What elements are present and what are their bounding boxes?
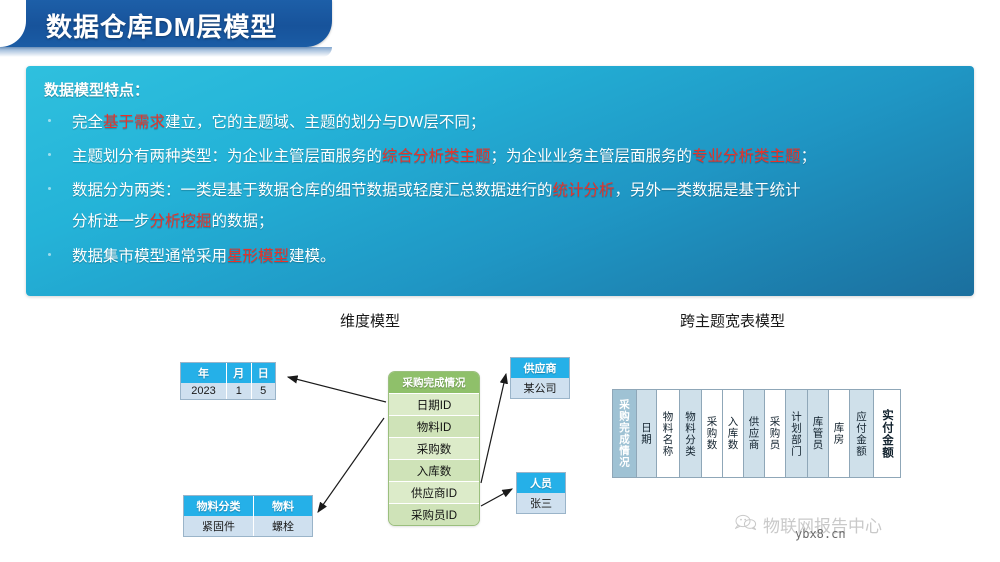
material-dim-header-category: 物料分类 <box>184 496 253 516</box>
panel-bullet-1: 完全基于需求建立，它的主题域、主题的划分与DW层不同； <box>48 112 960 134</box>
person-dim-value: 张三 <box>517 493 565 513</box>
fact-table-rows: 日期ID物料ID采购数入库数供应商ID采购员ID <box>389 393 479 525</box>
bullet-dot-icon <box>48 253 51 256</box>
supplier-dim-value: 某公司 <box>511 378 569 398</box>
plain-text: 主题划分有两种类型：为企业主管层面服务的 <box>72 148 382 165</box>
wide-table-column: 采购员 <box>765 390 786 477</box>
fact-table-row: 日期ID <box>389 393 479 415</box>
highlighted-term: 基于需求 <box>103 114 165 131</box>
panel-bullet-2-text: 主题划分有两种类型：为企业主管层面服务的综合分析类主题；为企业业务主管层面服务的… <box>72 146 960 168</box>
fact-table-row: 采购员ID <box>389 503 479 525</box>
highlighted-term: 专业分析类主题 <box>692 148 801 165</box>
material-dimension-header-row: 物料分类 物料 <box>184 496 312 516</box>
bullet-dot-icon <box>48 153 51 156</box>
dimension-model-caption: 维度模型 <box>340 310 400 331</box>
header-banner: 数据仓库DM层模型 <box>0 0 332 47</box>
plain-text: ； <box>801 148 817 165</box>
wide-table-column: 采购完成情况 <box>613 390 637 477</box>
plain-text: 完全 <box>72 114 103 131</box>
fact-table-row: 采购数 <box>389 437 479 459</box>
plain-text: 建立，它的主题域、主题的划分与DW层不同； <box>165 114 485 131</box>
fact-table-row: 物料ID <box>389 415 479 437</box>
plain-text: ，另外一类数据是基于统计 <box>615 182 801 199</box>
date-dimension-table: 年 月 日 2023 1 5 <box>180 362 276 400</box>
wide-table-column: 入库数 <box>723 390 744 477</box>
fact-table: 采购完成情况 日期ID物料ID采购数入库数供应商ID采购员ID <box>388 371 480 526</box>
wide-table: 采购完成情况日期物料名称物料分类采购数入库数供应商采购员计划部门库管员库房应付金… <box>612 389 901 478</box>
panel-heading: 数据模型特点： <box>44 79 149 100</box>
highlighted-term: 综合分析类主题 <box>382 148 491 165</box>
panel-bullet-3: 数据分为两类：一类是基于数据仓库的细节数据或轻度汇总数据进行的统计分析，另外一类… <box>48 180 960 202</box>
panel-bullet-1-text: 完全基于需求建立，它的主题域、主题的划分与DW层不同； <box>72 112 960 134</box>
wide-table-column: 库管员 <box>808 390 829 477</box>
date-dim-value-day: 5 <box>251 383 275 399</box>
feature-panel: 数据模型特点： 完全基于需求建立，它的主题域、主题的划分与DW层不同； 主题划分… <box>26 66 974 296</box>
plain-text: 数据集市模型通常采用 <box>72 248 227 265</box>
wide-table-column: 物料分类 <box>680 390 702 477</box>
material-dim-value-material: 螺栓 <box>253 516 312 536</box>
plain-text: 建模。 <box>289 248 336 265</box>
fact-table-row: 入库数 <box>389 459 479 481</box>
panel-bullet-3-continuation-text: 分析进一步分析挖掘的数据； <box>72 211 960 233</box>
highlighted-term: 统计分析 <box>553 182 615 199</box>
material-dim-value-category: 紧固件 <box>184 516 253 536</box>
header-notch-decoration <box>0 0 26 47</box>
date-dimension-header-row: 年 月 日 <box>181 363 275 383</box>
date-dim-value-year: 2023 <box>181 383 226 399</box>
panel-bullet-2: 主题划分有两种类型：为企业主管层面服务的综合分析类主题；为企业业务主管层面服务的… <box>48 146 960 168</box>
wide-table-column: 应付金额 <box>850 390 874 477</box>
wide-table-column: 实付金额 <box>874 390 900 477</box>
plain-text: 分析进一步 <box>72 213 150 230</box>
plain-text: 数据分为两类：一类是基于数据仓库的细节数据或轻度汇总数据进行的 <box>72 182 553 199</box>
panel-bullet-3-continuation: 分析进一步分析挖掘的数据； <box>48 211 960 233</box>
plain-text: 的数据； <box>212 213 274 230</box>
bullet-dot-icon <box>48 187 51 190</box>
highlighted-term: 分析挖掘 <box>150 213 212 230</box>
date-dim-value-month: 1 <box>226 383 250 399</box>
wide-table-column: 计划部门 <box>786 390 808 477</box>
material-dimension-value-row: 紧固件 螺栓 <box>184 516 312 536</box>
page-title: 数据仓库DM层模型 <box>46 7 277 44</box>
panel-bullet-4-text: 数据集市模型通常采用星形模型建模。 <box>72 246 960 268</box>
wide-table-model-caption: 跨主题宽表模型 <box>680 310 785 331</box>
bullet-dot-icon <box>48 119 51 122</box>
material-dimension-table: 物料分类 物料 紧固件 螺栓 <box>183 495 313 537</box>
plain-text: ；为企业业务主管层面服务的 <box>491 148 693 165</box>
material-dim-header-material: 物料 <box>253 496 312 516</box>
watermark-url: ybx8.cn <box>795 527 846 541</box>
fact-table-title: 采购完成情况 <box>389 372 479 393</box>
supplier-dim-header: 供应商 <box>511 358 569 378</box>
date-dim-header-month: 月 <box>226 363 250 383</box>
person-dim-header: 人员 <box>517 473 565 493</box>
wechat-icon <box>735 514 757 536</box>
date-dimension-value-row: 2023 1 5 <box>181 383 275 399</box>
wide-table-column: 供应商 <box>744 390 765 477</box>
person-dimension-table: 人员 张三 <box>516 472 566 514</box>
wide-table-column: 物料名称 <box>657 390 680 477</box>
highlighted-term: 星形模型 <box>227 248 289 265</box>
panel-bullet-4: 数据集市模型通常采用星形模型建模。 <box>48 246 960 268</box>
wide-table-column: 采购数 <box>702 390 723 477</box>
date-dim-header-year: 年 <box>181 363 226 383</box>
fact-table-row: 供应商ID <box>389 481 479 503</box>
date-dim-header-day: 日 <box>251 363 275 383</box>
panel-bullet-3-text: 数据分为两类：一类是基于数据仓库的细节数据或轻度汇总数据进行的统计分析，另外一类… <box>72 180 960 202</box>
wide-table-column: 库房 <box>829 390 850 477</box>
supplier-dimension-table: 供应商 某公司 <box>510 357 570 399</box>
wide-table-column: 日期 <box>637 390 657 477</box>
